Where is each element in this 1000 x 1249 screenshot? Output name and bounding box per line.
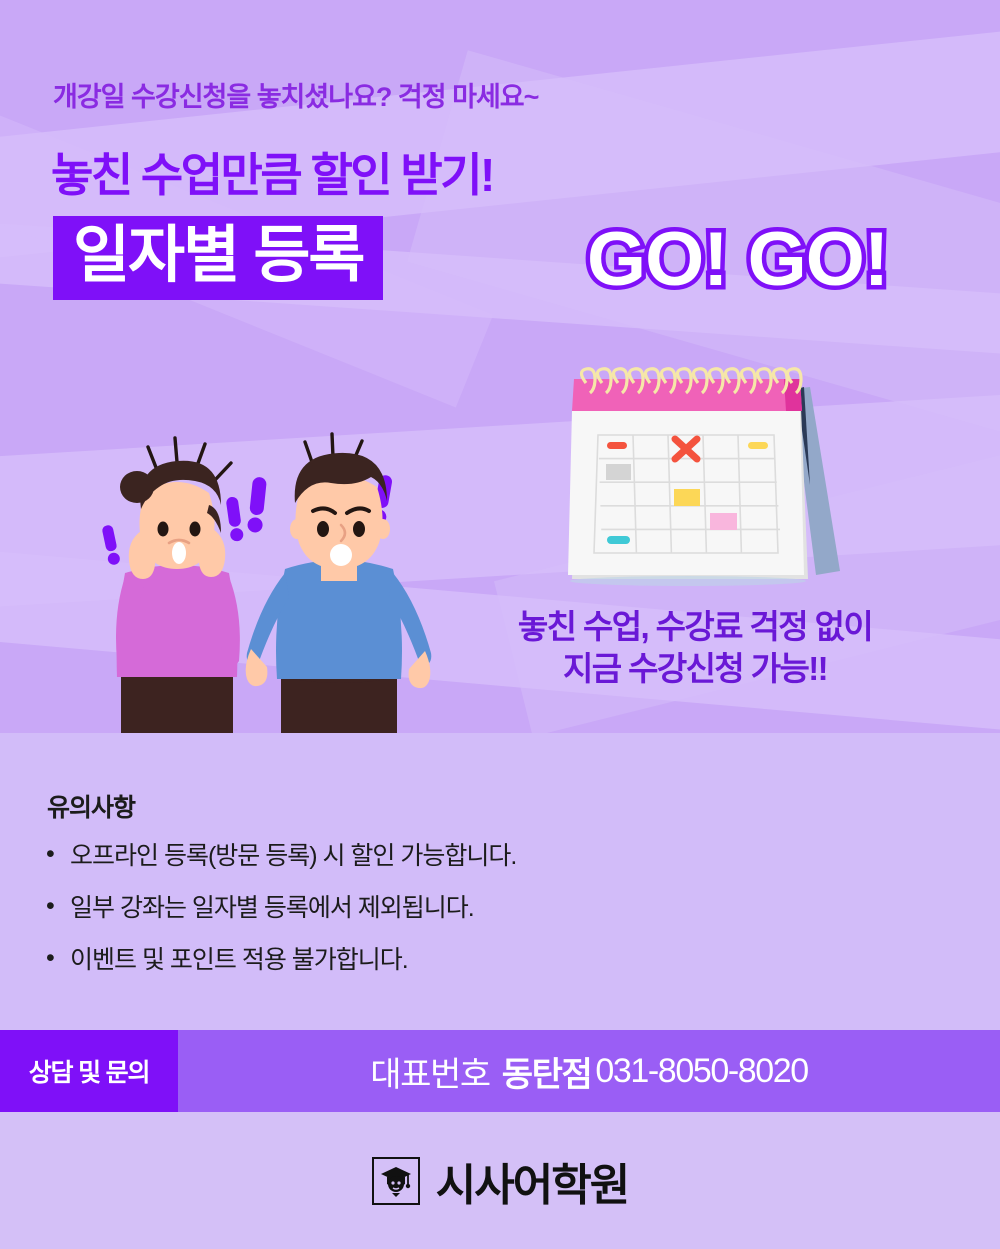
- page-title: 놓친 수업만큼 할인 받기!: [51, 139, 493, 205]
- contact-info: 대표번호 동탄점 031-8050-8020: [178, 1030, 1000, 1112]
- sub-copy-line-2: 지금 수강신청 가능!!: [470, 648, 920, 690]
- notices-title: 유의사항: [47, 788, 135, 824]
- phone-number[interactable]: 031-8050-8020: [595, 1052, 807, 1091]
- notices-section: 유의사항 오프라인 등록(방문 등록) 시 할인 가능합니다. 일부 강좌는 일…: [0, 733, 1000, 1030]
- brand-name: 시사어학원: [436, 1149, 628, 1213]
- man-figure: [246, 453, 432, 733]
- hero-section: 개강일 수강신청을 놓치셨나요? 걱정 마세요~ 놓친 수업만큼 할인 받기! …: [0, 0, 1000, 733]
- boxed-headline-label: 일자별 등록: [73, 225, 363, 287]
- sub-copy: 놓친 수업, 수강료 걱정 없이 지금 수강신청 가능!!: [470, 606, 920, 690]
- sub-copy-line-1: 놓친 수업, 수강료 걱정 없이: [470, 606, 920, 648]
- contact-bar: 상담 및 문의 대표번호 동탄점 031-8050-8020: [0, 1030, 1000, 1112]
- contact-tag: 상담 및 문의: [0, 1030, 178, 1112]
- surprised-people-illustration: [85, 425, 455, 733]
- kicker-text: 개강일 수강신청을 놓치셨나요? 걱정 마세요~: [53, 75, 538, 114]
- list-item: 이벤트 및 포인트 적용 불가합니다.: [38, 945, 516, 975]
- cta-text: GO! GO!: [587, 222, 888, 298]
- contact-label: 대표번호: [370, 1047, 490, 1096]
- promo-banner: 개강일 수강신청을 놓치셨나요? 걱정 마세요~ 놓친 수업만큼 할인 받기! …: [0, 0, 1000, 1249]
- notices-list: 오프라인 등록(방문 등록) 시 할인 가능합니다. 일부 강좌는 일자별 등록…: [38, 841, 516, 997]
- list-item: 오프라인 등록(방문 등록) 시 할인 가능합니다.: [38, 841, 516, 871]
- graduate-face-icon: [372, 1157, 420, 1205]
- list-item: 일부 강좌는 일자별 등록에서 제외됩니다.: [38, 893, 516, 923]
- calendar-illustration: [548, 365, 848, 605]
- branch-name: 동탄점: [502, 1047, 592, 1096]
- woman-figure: [116, 461, 240, 733]
- footer-section: 시사어학원: [0, 1112, 1000, 1249]
- boxed-headline: 일자별 등록: [53, 216, 383, 300]
- brand-logo: 시사어학원: [0, 1112, 1000, 1249]
